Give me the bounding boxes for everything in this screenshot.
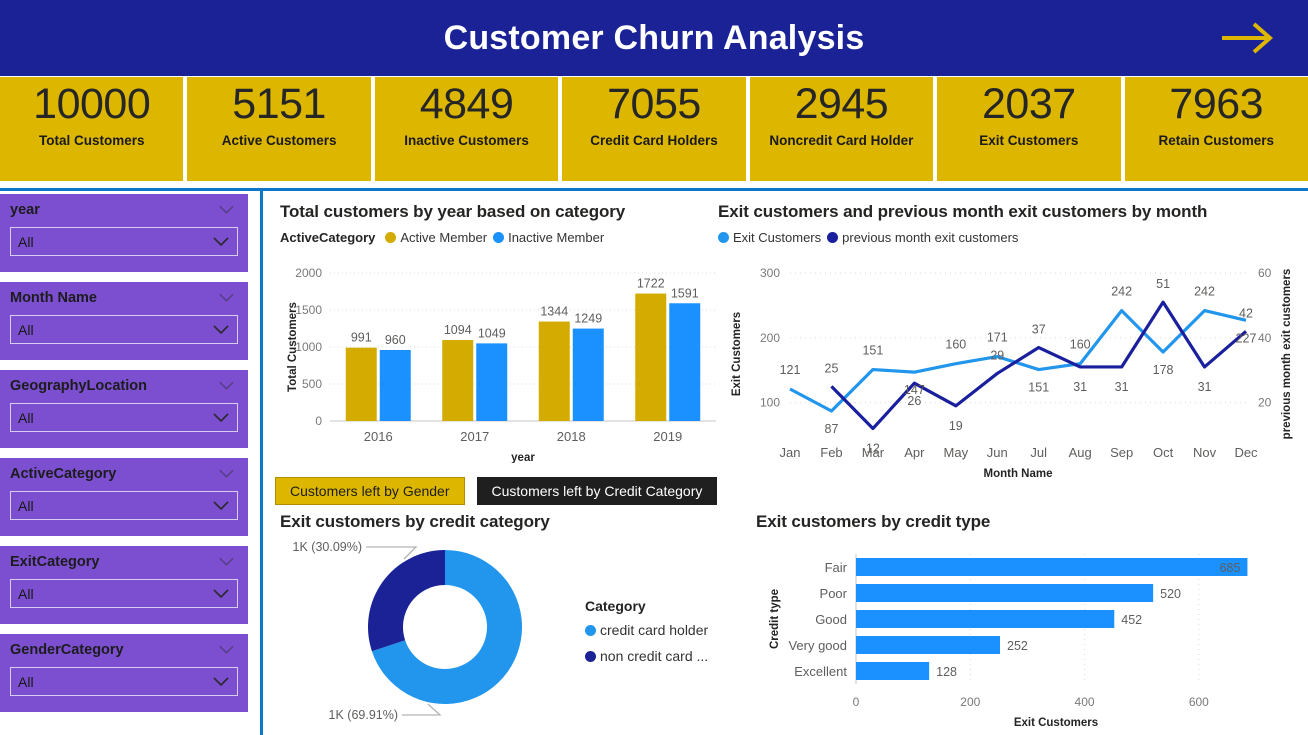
- legend-label: previous month exit customers: [842, 230, 1018, 245]
- kpi-label: Active Customers: [222, 133, 337, 148]
- kpi-value: 5151: [232, 82, 326, 127]
- svg-text:2019: 2019: [653, 429, 682, 444]
- svg-text:51: 51: [1156, 277, 1170, 291]
- kpi-value: 4849: [420, 82, 514, 127]
- svg-text:151: 151: [1028, 381, 1049, 395]
- svg-text:2000: 2000: [295, 266, 322, 280]
- svg-text:Jan: Jan: [780, 445, 801, 460]
- donut-legend: Category credit card holder non credit c…: [585, 598, 708, 674]
- svg-text:1722: 1722: [637, 277, 665, 291]
- legend-title: ActiveCategory: [280, 230, 375, 245]
- slicer-title: GenderCategory: [10, 642, 238, 658]
- svg-text:42: 42: [1239, 306, 1253, 320]
- chart-legend: Exit Customers previous month exit custo…: [718, 230, 1308, 245]
- chart-title: Total customers by year based on categor…: [280, 202, 720, 222]
- svg-text:87: 87: [825, 422, 839, 436]
- slicer-dropdown[interactable]: All: [10, 315, 238, 344]
- chevron-down-icon[interactable]: [219, 293, 234, 302]
- chevron-down-icon[interactable]: [219, 645, 234, 654]
- svg-text:31: 31: [1115, 380, 1129, 394]
- svg-text:242: 242: [1194, 285, 1215, 299]
- svg-text:31: 31: [1073, 380, 1087, 394]
- chevron-down-icon[interactable]: [219, 205, 234, 214]
- svg-text:Total Customers: Total Customers: [287, 302, 299, 392]
- svg-text:160: 160: [1070, 338, 1091, 352]
- legend-item-inactive-member[interactable]: Inactive Member: [493, 230, 604, 245]
- svg-text:200: 200: [960, 695, 980, 709]
- sidebar-divider: [260, 188, 263, 735]
- legend-label: Inactive Member: [508, 230, 604, 245]
- svg-text:991: 991: [351, 331, 372, 345]
- chevron-down-icon[interactable]: [219, 557, 234, 566]
- svg-text:100: 100: [760, 396, 780, 410]
- page-title: Customer Churn Analysis: [444, 19, 865, 58]
- slicer-value: All: [18, 586, 34, 602]
- svg-text:1094: 1094: [444, 323, 472, 337]
- svg-text:Oct: Oct: [1153, 445, 1174, 460]
- chevron-down-icon[interactable]: [213, 413, 229, 422]
- legend-item-non-credit-card[interactable]: non credit card ...: [585, 648, 708, 664]
- tab-customers-left-by-credit-category[interactable]: Customers left by Credit Category: [477, 477, 718, 505]
- svg-text:1500: 1500: [295, 303, 322, 317]
- chevron-down-icon[interactable]: [213, 677, 229, 686]
- svg-text:1049: 1049: [478, 326, 506, 340]
- svg-text:Good: Good: [815, 612, 847, 627]
- svg-text:Feb: Feb: [820, 445, 842, 460]
- kpi-label: Inactive Customers: [404, 133, 529, 148]
- chart-tab-group: Customers left by Gender Customers left …: [275, 477, 717, 505]
- kpi-strip: 10000 Total Customers 5151 Active Custom…: [0, 77, 1308, 181]
- slicer-dropdown[interactable]: All: [10, 227, 238, 256]
- chevron-down-icon[interactable]: [213, 589, 229, 598]
- svg-text:0: 0: [853, 695, 860, 709]
- slicer-exit-category[interactable]: ExitCategory All: [0, 546, 248, 624]
- slicer-dropdown[interactable]: All: [10, 667, 238, 696]
- svg-text:previous month exit customers: previous month exit customers: [1281, 269, 1293, 440]
- svg-text:500: 500: [302, 377, 322, 391]
- legend-label: non credit card ...: [600, 648, 708, 664]
- slicer-value: All: [18, 234, 34, 250]
- legend-swatch-icon: [827, 232, 838, 243]
- kpi-value: 7055: [607, 82, 701, 127]
- kpi-card-noncredit-card-holder[interactable]: 2945 Noncredit Card Holder: [750, 77, 933, 181]
- chart-legend: ActiveCategory Active Member Inactive Me…: [280, 230, 720, 245]
- svg-text:242: 242: [1111, 285, 1132, 299]
- svg-text:121: 121: [780, 363, 801, 377]
- kpi-value: 2037: [982, 82, 1076, 127]
- slicer-month-name[interactable]: Month Name All: [0, 282, 248, 360]
- legend-label: Active Member: [400, 230, 487, 245]
- svg-text:Exit Customers: Exit Customers: [731, 312, 743, 396]
- legend-item-credit-card-holder[interactable]: credit card holder: [585, 622, 708, 638]
- svg-text:520: 520: [1160, 587, 1181, 601]
- svg-text:May: May: [944, 445, 969, 460]
- svg-text:227: 227: [1236, 331, 1257, 345]
- chart-plot-area[interactable]: 0200400600Fair685Poor520Good452Very good…: [756, 532, 1308, 735]
- svg-text:Aug: Aug: [1069, 445, 1092, 460]
- chart-title: Exit customers by credit type: [756, 512, 1308, 532]
- legend-swatch-icon: [385, 232, 396, 243]
- svg-text:Exit Customers: Exit Customers: [1014, 717, 1098, 729]
- chevron-down-icon[interactable]: [219, 381, 234, 390]
- svg-text:26: 26: [907, 394, 921, 408]
- kpi-card-credit-card-holders[interactable]: 7055 Credit Card Holders: [562, 77, 745, 181]
- svg-text:Jul: Jul: [1030, 445, 1047, 460]
- svg-text:0: 0: [315, 414, 322, 428]
- svg-text:1000: 1000: [295, 340, 322, 354]
- slicer-title: Month Name: [10, 290, 238, 306]
- kpi-value: 2945: [795, 82, 889, 127]
- slicer-year[interactable]: year All: [0, 194, 248, 272]
- legend-swatch-icon: [718, 232, 729, 243]
- svg-text:600: 600: [1189, 695, 1209, 709]
- svg-text:452: 452: [1121, 613, 1142, 627]
- svg-text:171: 171: [987, 331, 1008, 345]
- kpi-value: 10000: [33, 82, 150, 127]
- slicer-geography-location[interactable]: GeographyLocation All: [0, 370, 248, 448]
- chart-exit-by-credit-type: Exit customers by credit type 0200400600…: [756, 512, 1308, 735]
- svg-text:151: 151: [862, 344, 883, 358]
- svg-text:37: 37: [1032, 323, 1046, 337]
- svg-text:960: 960: [385, 333, 406, 347]
- slicer-value: All: [18, 410, 34, 426]
- chart-exit-by-month: Exit customers and previous month exit c…: [718, 202, 1308, 490]
- legend-swatch-icon: [493, 232, 504, 243]
- chart-plot-area[interactable]: 100200300204060JanFebMarAprMayJunJulAugS…: [718, 245, 1308, 485]
- tab-customers-left-by-gender[interactable]: Customers left by Gender: [275, 477, 465, 505]
- slicer-gender-category[interactable]: GenderCategory All: [0, 634, 248, 712]
- legend-label: Exit Customers: [733, 230, 821, 245]
- svg-text:Excellent: Excellent: [794, 664, 847, 679]
- legend-item-exit-customers[interactable]: Exit Customers: [718, 230, 821, 245]
- filter-sidebar: year All Month Name All: [0, 194, 250, 735]
- chevron-down-icon[interactable]: [213, 237, 229, 246]
- svg-text:31: 31: [1198, 380, 1212, 394]
- kpi-label: Total Customers: [39, 133, 145, 148]
- svg-text:Fair: Fair: [825, 560, 848, 575]
- svg-text:1344: 1344: [540, 305, 568, 319]
- chart-plot-area[interactable]: 0500100015002000991960201610941049201713…: [280, 245, 720, 463]
- header-divider: [0, 188, 1308, 191]
- svg-text:160: 160: [945, 338, 966, 352]
- kpi-label: Retain Customers: [1158, 133, 1274, 148]
- svg-text:1591: 1591: [671, 286, 699, 300]
- chevron-down-icon[interactable]: [219, 469, 234, 478]
- legend-item-previous-month[interactable]: previous month exit customers: [827, 230, 1018, 245]
- legend-item-active-member[interactable]: Active Member: [385, 230, 487, 245]
- slicer-active-category[interactable]: ActiveCategory All: [0, 458, 248, 536]
- slicer-dropdown[interactable]: All: [10, 579, 238, 608]
- svg-text:252: 252: [1007, 639, 1028, 653]
- kpi-value: 7963: [1169, 82, 1263, 127]
- svg-text:Very good: Very good: [788, 638, 847, 653]
- svg-text:1249: 1249: [574, 312, 602, 326]
- slicer-dropdown[interactable]: All: [10, 403, 238, 432]
- chart-title: Exit customers and previous month exit c…: [718, 202, 1308, 222]
- arrow-right-icon[interactable]: [1220, 21, 1276, 55]
- svg-text:40: 40: [1258, 331, 1272, 345]
- svg-text:128: 128: [936, 665, 957, 679]
- svg-text:1K (69.91%): 1K (69.91%): [329, 708, 398, 722]
- chart-customers-by-year: Total customers by year based on categor…: [280, 202, 720, 468]
- svg-text:300: 300: [760, 266, 780, 280]
- kpi-card-inactive-customers[interactable]: 4849 Inactive Customers: [375, 77, 558, 181]
- kpi-card-exit-customers[interactable]: 2037 Exit Customers: [937, 77, 1120, 181]
- svg-text:60: 60: [1258, 266, 1272, 280]
- chevron-down-icon[interactable]: [213, 501, 229, 510]
- svg-text:178: 178: [1153, 363, 1174, 377]
- kpi-label: Credit Card Holders: [590, 133, 718, 148]
- svg-text:Apr: Apr: [904, 445, 925, 460]
- svg-text:2018: 2018: [557, 429, 586, 444]
- kpi-label: Noncredit Card Holder: [769, 133, 913, 148]
- slicer-value: All: [18, 674, 34, 690]
- slicer-value: All: [18, 498, 34, 514]
- svg-text:400: 400: [1075, 695, 1095, 709]
- svg-text:685: 685: [1220, 561, 1241, 575]
- svg-text:200: 200: [760, 331, 780, 345]
- slicer-value: All: [18, 322, 34, 338]
- svg-text:12: 12: [866, 442, 880, 456]
- legend-swatch-icon: [585, 651, 596, 662]
- slicer-title: GeographyLocation: [10, 378, 238, 394]
- svg-text:2017: 2017: [460, 429, 489, 444]
- kpi-card-total-customers[interactable]: 10000 Total Customers: [0, 77, 183, 181]
- svg-text:year: year: [511, 452, 535, 463]
- legend-title: Category: [585, 598, 704, 614]
- slicer-title: ExitCategory: [10, 554, 238, 570]
- chevron-down-icon[interactable]: [213, 325, 229, 334]
- svg-text:2016: 2016: [364, 429, 393, 444]
- svg-text:29: 29: [990, 348, 1004, 362]
- slicer-title: ActiveCategory: [10, 466, 238, 482]
- page-header: Customer Churn Analysis: [0, 0, 1308, 76]
- chart-title: Exit customers by credit category: [280, 512, 720, 532]
- svg-text:Credit type: Credit type: [769, 589, 781, 649]
- legend-label: credit card holder: [600, 622, 708, 638]
- svg-text:Month Name: Month Name: [984, 468, 1053, 480]
- slicer-title: year: [10, 202, 238, 218]
- svg-text:20: 20: [1258, 396, 1272, 410]
- slicer-dropdown[interactable]: All: [10, 491, 238, 520]
- svg-text:Jun: Jun: [987, 445, 1008, 460]
- svg-text:Dec: Dec: [1234, 445, 1258, 460]
- kpi-label: Exit Customers: [979, 133, 1078, 148]
- svg-text:1K (30.09%): 1K (30.09%): [293, 540, 362, 554]
- svg-text:25: 25: [825, 361, 839, 375]
- kpi-card-active-customers[interactable]: 5151 Active Customers: [187, 77, 370, 181]
- legend-swatch-icon: [585, 625, 596, 636]
- svg-text:19: 19: [949, 419, 963, 433]
- svg-text:Poor: Poor: [820, 586, 848, 601]
- svg-text:Sep: Sep: [1110, 445, 1133, 460]
- kpi-card-retain-customers[interactable]: 7963 Retain Customers: [1125, 77, 1308, 181]
- svg-text:Nov: Nov: [1193, 445, 1217, 460]
